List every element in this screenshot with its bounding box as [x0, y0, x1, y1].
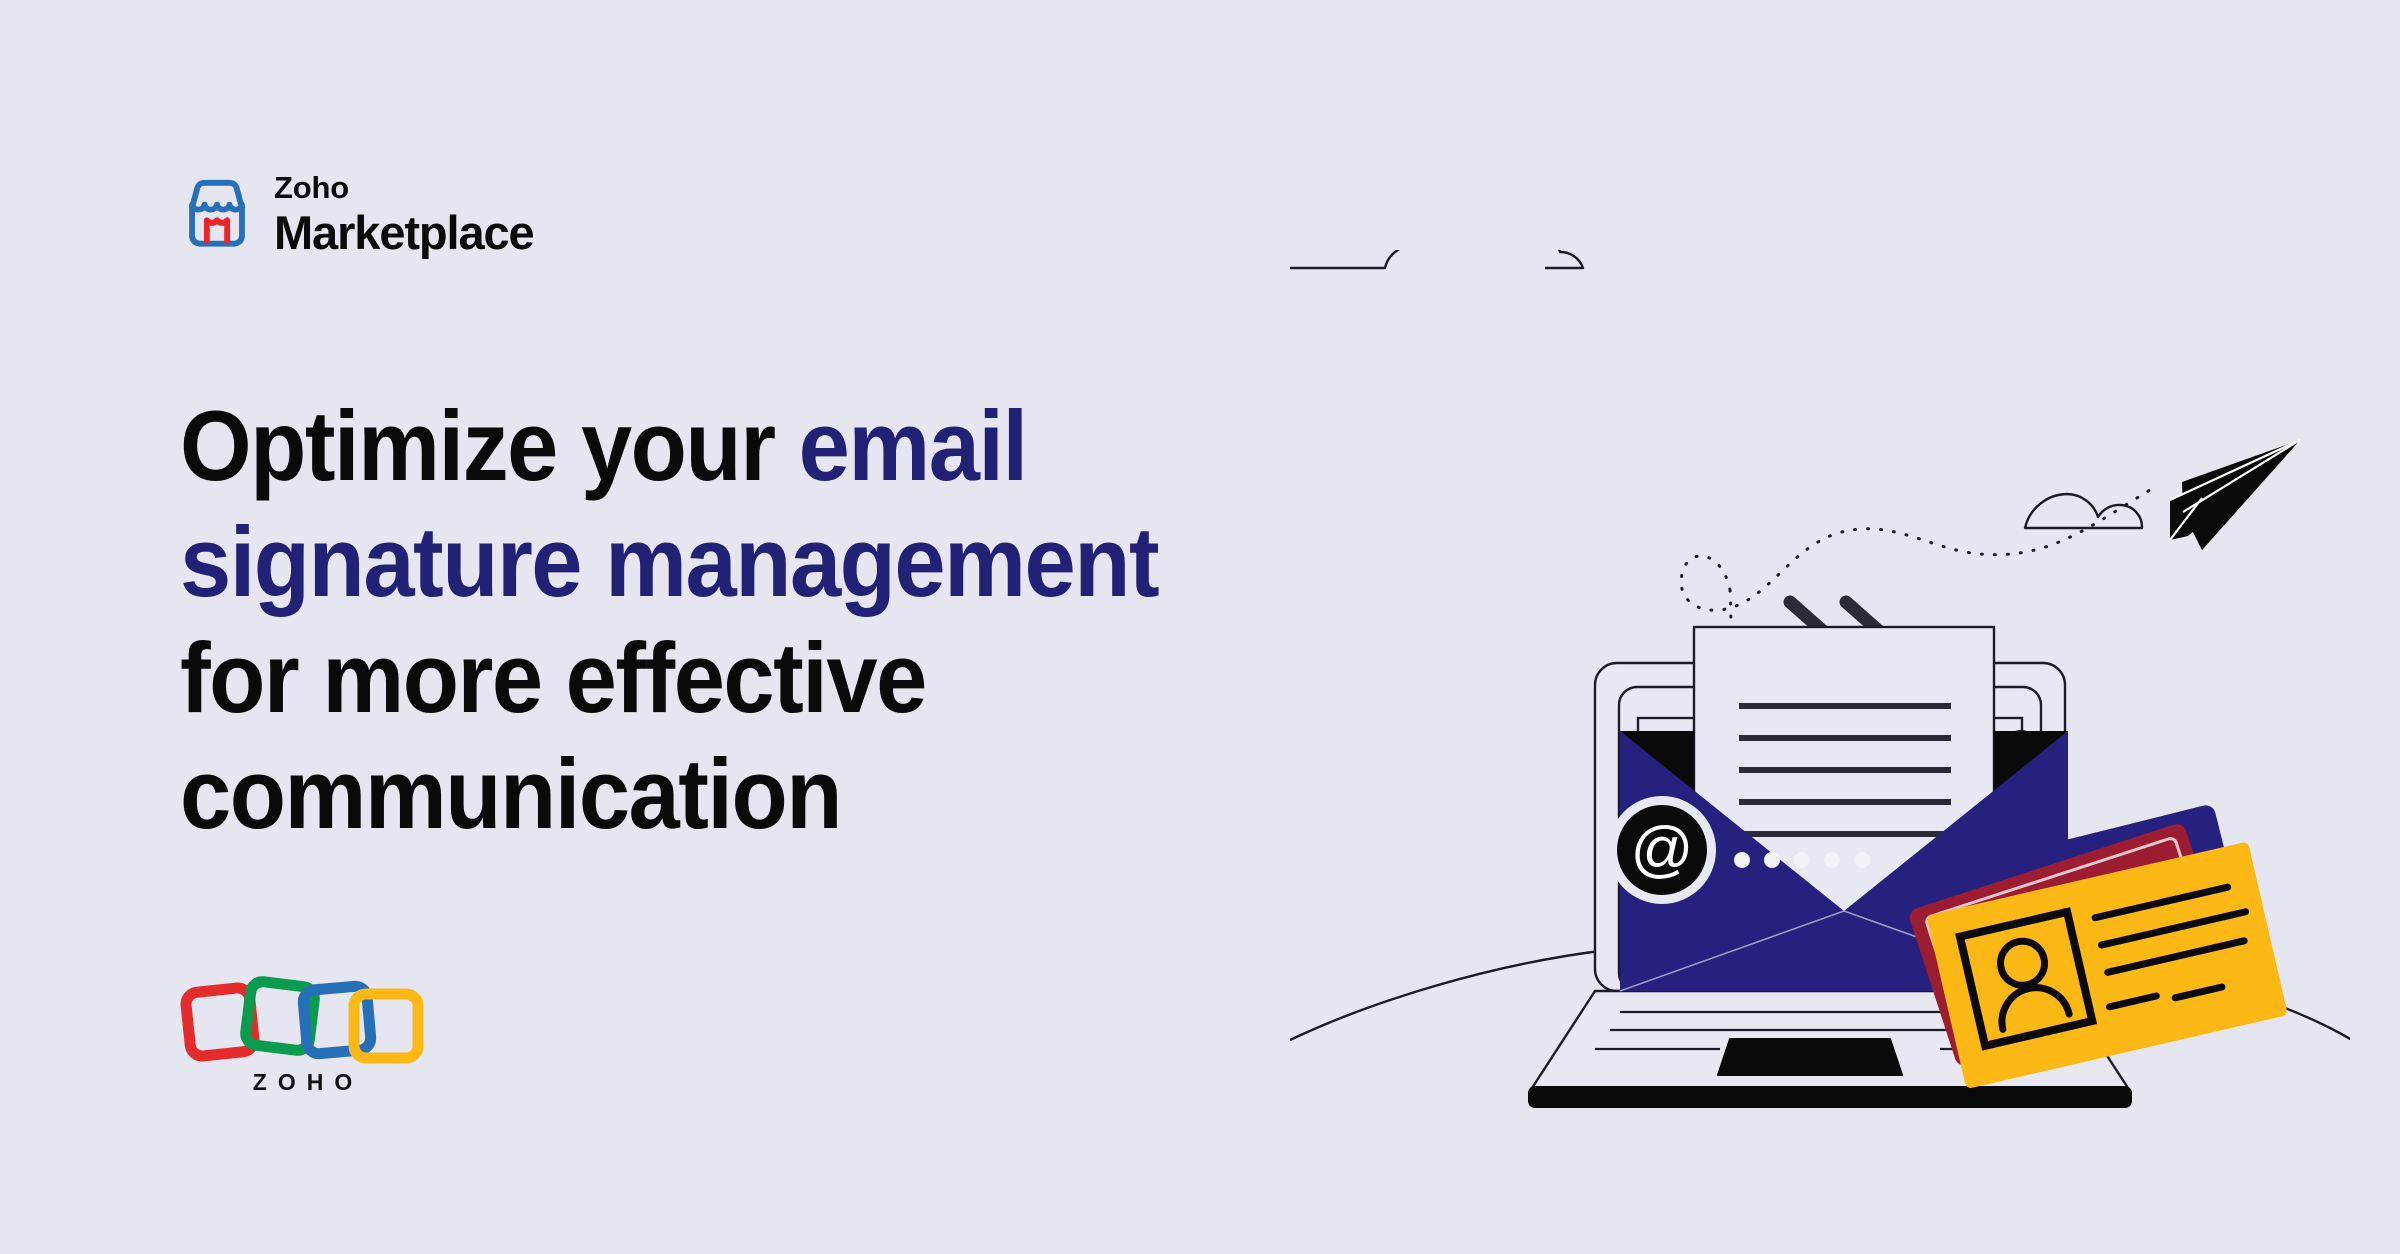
- laptop-trackpad: [1718, 1039, 1902, 1075]
- marketing-banner: Zoho Marketplace Optimize your email sig…: [0, 0, 2400, 1254]
- laptop-front-edge: [1528, 1086, 2132, 1108]
- logo-zoho-text: Zoho: [274, 172, 534, 203]
- headline-line-4: communication: [180, 736, 1250, 852]
- email-signature-illustration: @: [1290, 250, 2350, 1150]
- at-symbol-glyph: @: [1631, 815, 1694, 884]
- headline-seg-1b: email: [799, 390, 1027, 501]
- zoho-marketplace-logo[interactable]: Zoho Marketplace: [178, 172, 534, 256]
- content-column: Zoho Marketplace Optimize your email sig…: [0, 0, 1340, 1254]
- logo-marketplace-text: Marketplace: [274, 209, 534, 256]
- ground-curve-left-icon: [1290, 950, 1608, 1040]
- headline: Optimize your email signature management…: [180, 388, 1250, 851]
- cloud-large-left-icon: [1290, 250, 1583, 268]
- logo-wordmark: Zoho Marketplace: [274, 172, 534, 256]
- headline-line-2: signature management: [180, 504, 1250, 620]
- zoho-corporate-logo[interactable]: ZOHO: [178, 968, 438, 1096]
- headline-line-3: for more effective: [180, 620, 1250, 736]
- headline-seg-1a: Optimize your: [180, 390, 799, 501]
- dotted-flight-path-icon: [1681, 490, 2150, 610]
- cloud-small-right-icon: [2025, 494, 2142, 528]
- zoho-wordmark-text: ZOHO: [253, 1069, 363, 1095]
- paper-plane-icon: [2170, 440, 2300, 550]
- storefront-icon: [178, 175, 256, 253]
- headline-line-1: Optimize your email: [180, 388, 1250, 504]
